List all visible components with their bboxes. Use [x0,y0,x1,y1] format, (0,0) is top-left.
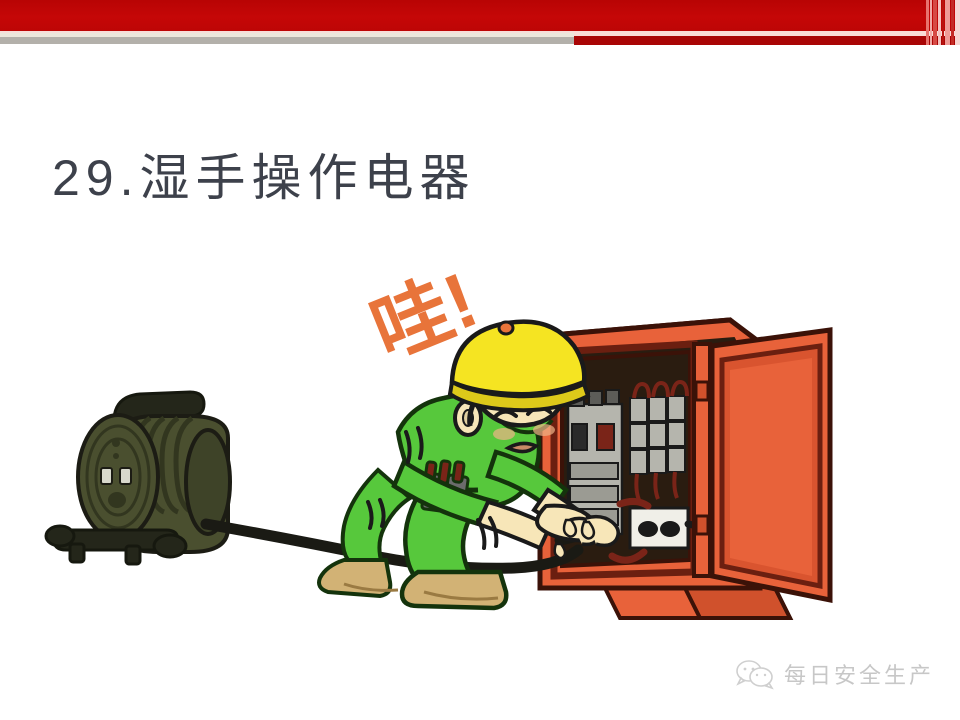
header-stripe-3 [938,0,941,45]
page-title: 29.湿手操作电器 [52,138,476,210]
cabinet-door-open [712,330,830,600]
header-stripe-1 [930,0,932,45]
worker-figure [319,322,618,608]
exclamation-text: 哇! [359,255,488,376]
watermark: 每日安全生产 [735,658,934,690]
header-bottom-spacer [0,45,960,53]
svg-text:哇!: 哇! [359,255,488,376]
power-cable [206,524,600,568]
header-stripe-2 [933,0,937,45]
circuit-breaker-right-bank [630,382,687,500]
tool-pouch [422,461,469,514]
cable-reel [46,392,230,564]
header-darkred-bar-right [574,36,960,45]
wet-hands [537,506,618,558]
header-stripe-7 [955,0,960,45]
header-red-background [0,0,960,31]
header-stripe-4 [942,0,944,45]
wechat-icon [735,658,775,690]
header-stripe-6 [951,0,954,45]
motion-lines [368,428,496,548]
hard-hat [450,322,588,411]
slide-header-band [0,0,960,52]
watermark-text: 每日安全生产 [784,658,934,690]
header-stripe-5 [945,0,950,45]
circuit-breaker-left-bank [568,390,622,534]
electrical-cabinet [540,320,830,618]
plug-and-cord [688,524,741,548]
power-socket-panel [612,501,688,560]
safety-illustration: 哇! [0,0,960,720]
header-gray-bar-left [0,37,574,44]
header-stripe-0 [926,0,929,45]
